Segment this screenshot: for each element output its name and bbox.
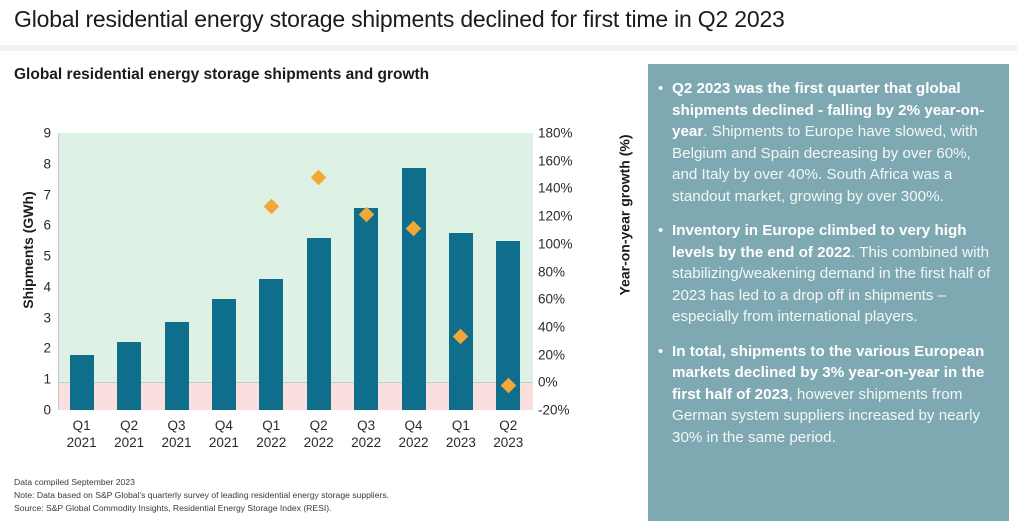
bar-q4-2022[interactable] (402, 168, 426, 410)
chart-plot-wrapper: Shipments (GWh) 9876543210 180%160%140%1… (0, 52, 640, 529)
x-axis-tick: Q12021 (58, 417, 106, 451)
y-axis-right-title: Year-on-year growth (%) (617, 118, 633, 313)
title-divider (0, 45, 1017, 51)
y-axis-left-tick: 7 (43, 187, 51, 202)
y-axis-left-tick: 8 (43, 156, 51, 171)
x-axis-tick: Q22023 (484, 417, 532, 451)
x-tick-year: 2021 (58, 434, 106, 451)
x-tick-quarter: Q4 (200, 417, 248, 434)
commentary-bullet-text: Inventory in Europe climbed to very high… (672, 220, 993, 328)
x-tick-year: 2022 (342, 434, 390, 451)
footnote-line-3: Source: S&P Global Commodity Insights, R… (14, 502, 614, 515)
y-axis-right-tick: 160% (538, 153, 573, 168)
bar-q1-2023[interactable] (449, 233, 473, 410)
x-tick-quarter: Q4 (390, 417, 438, 434)
bar-q4-2021[interactable] (212, 299, 236, 410)
bar-q3-2021[interactable] (165, 322, 189, 410)
commentary-bullet-highlight: In total, shipments to the various Europ… (672, 343, 984, 403)
y-axis-right-tick: -20% (538, 403, 570, 418)
y-axis-right-tick: 180% (538, 126, 573, 141)
page-title: Global residential energy storage shipme… (14, 6, 994, 33)
x-tick-quarter: Q2 (484, 417, 532, 434)
y-axis-left-tick: 1 (43, 372, 51, 387)
y-axis-right-tick: 60% (538, 292, 565, 307)
x-tick-year: 2021 (105, 434, 153, 451)
x-tick-quarter: Q1 (437, 417, 485, 434)
y-axis-right-tick: 0% (538, 375, 558, 390)
x-axis-tick: Q42021 (200, 417, 248, 451)
y-axis-left-tick: 0 (43, 403, 51, 418)
commentary-panel: •Q2 2023 was the first quarter that glob… (648, 64, 1009, 521)
bar-q2-2021[interactable] (117, 342, 141, 410)
y-axis-right-ticks: 180%160%140%120%100%80%60%40%20%0%-20% (538, 133, 594, 410)
bullet-dot-icon: • (658, 78, 672, 207)
x-axis-tick: Q12022 (247, 417, 295, 451)
bar-q1-2022[interactable] (259, 279, 283, 410)
y-axis-right-tick: 80% (538, 264, 565, 279)
x-axis-tick: Q12023 (437, 417, 485, 451)
y-axis-right-tick: 40% (538, 319, 565, 334)
commentary-bullet-text: In total, shipments to the various Europ… (672, 341, 993, 449)
y-axis-right-tick: 120% (538, 209, 573, 224)
x-tick-quarter: Q3 (153, 417, 201, 434)
y-axis-left-tick: 3 (43, 310, 51, 325)
y-axis-left-tick: 6 (43, 218, 51, 233)
bar-q2-2022[interactable] (307, 238, 331, 410)
x-axis-tick: Q42022 (390, 417, 438, 451)
commentary-bullet-3: •In total, shipments to the various Euro… (658, 341, 993, 449)
x-axis-tick: Q32022 (342, 417, 390, 451)
bullet-dot-icon: • (658, 341, 672, 449)
y-axis-left-tick: 5 (43, 249, 51, 264)
y-axis-right-tick: 140% (538, 181, 573, 196)
commentary-bullet-text: Q2 2023 was the first quarter that globa… (672, 78, 993, 207)
commentary-bullet-highlight: Q2 2023 was the first quarter that globa… (672, 80, 984, 140)
y-axis-left-ticks: 9876543210 (18, 133, 51, 410)
x-axis-tick: Q22021 (105, 417, 153, 451)
x-tick-quarter: Q1 (247, 417, 295, 434)
x-axis-tick: Q32021 (153, 417, 201, 451)
bullet-dot-icon: • (658, 220, 672, 328)
x-tick-year: 2023 (437, 434, 485, 451)
x-tick-quarter: Q1 (58, 417, 106, 434)
y-axis-right-tick: 100% (538, 236, 573, 251)
x-tick-year: 2022 (247, 434, 295, 451)
commentary-bullet-highlight: Inventory in Europe climbed to very high… (672, 222, 967, 261)
y-axis-left-tick: 2 (43, 341, 51, 356)
x-tick-quarter: Q2 (295, 417, 343, 434)
chart-footnote: Data compiled September 2023 Note: Data … (14, 476, 614, 515)
chart-panel: Global residential energy storage shipme… (0, 52, 640, 529)
commentary-bullet-1: •Q2 2023 was the first quarter that glob… (658, 78, 993, 207)
footnote-line-2: Note: Data based on S&P Global's quarter… (14, 489, 614, 502)
x-tick-year: 2021 (153, 434, 201, 451)
bar-q1-2021[interactable] (70, 355, 94, 410)
x-tick-year: 2021 (200, 434, 248, 451)
y-axis-left-tick: 4 (43, 279, 51, 294)
y-axis-right-tick: 20% (538, 347, 565, 362)
x-tick-year: 2022 (390, 434, 438, 451)
y-axis-left-tick: 9 (43, 126, 51, 141)
x-tick-quarter: Q2 (105, 417, 153, 434)
x-tick-year: 2022 (295, 434, 343, 451)
x-tick-quarter: Q3 (342, 417, 390, 434)
x-axis-tick: Q22022 (295, 417, 343, 451)
commentary-bullet-2: •Inventory in Europe climbed to very hig… (658, 220, 993, 328)
footnote-line-1: Data compiled September 2023 (14, 476, 614, 489)
x-tick-year: 2023 (484, 434, 532, 451)
bar-q3-2022[interactable] (354, 208, 378, 410)
